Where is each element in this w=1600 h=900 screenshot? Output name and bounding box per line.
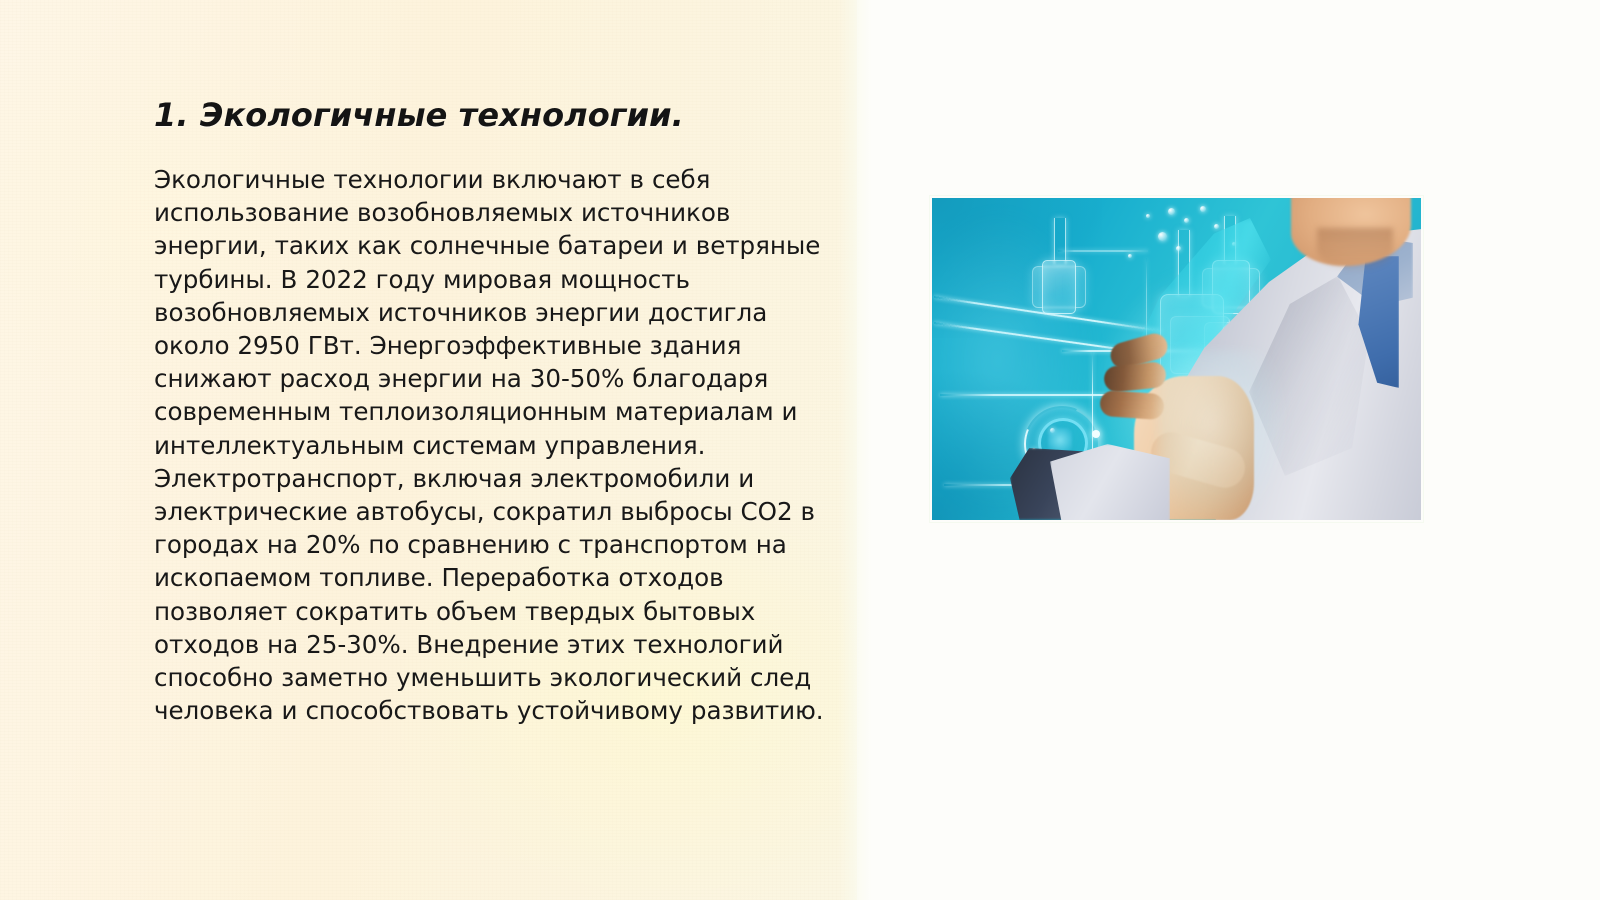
text-column: 1. Экологичные технологии. Экологичные т… bbox=[154, 96, 826, 727]
body-paragraph: Экологичные технологии включают в себя и… bbox=[154, 163, 826, 727]
photo-canvas bbox=[932, 198, 1421, 520]
hud-ring-dot bbox=[1092, 430, 1100, 438]
slide: 1. Экологичные технологии. Экологичные т… bbox=[0, 0, 1600, 900]
hand-glow bbox=[1158, 350, 1288, 520]
particle-bubble bbox=[1128, 254, 1132, 258]
particle-bubble bbox=[1146, 214, 1150, 218]
finger bbox=[1099, 390, 1165, 420]
particle-bubble bbox=[1158, 232, 1167, 241]
illustration-photo bbox=[932, 198, 1421, 520]
hologram-panel bbox=[1042, 260, 1076, 314]
hologram-stem bbox=[1054, 218, 1066, 264]
neck-shadow bbox=[1317, 228, 1393, 270]
page-title: 1. Экологичные технологии. bbox=[154, 96, 826, 135]
hud-guide-line bbox=[1058, 250, 1148, 252]
